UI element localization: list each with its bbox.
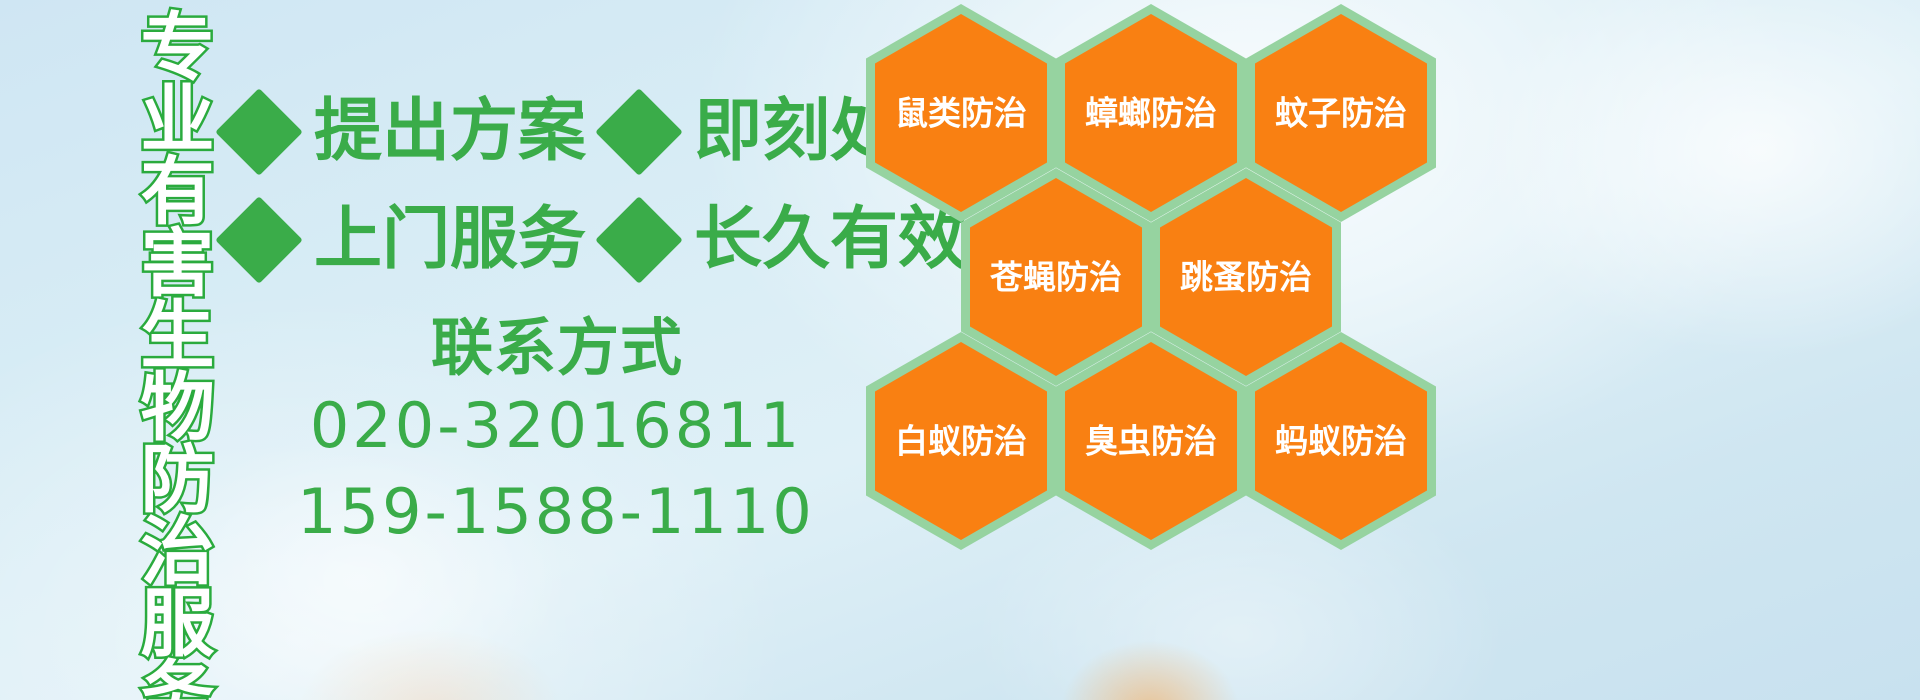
feature-item: 提出方案 [228,98,608,166]
hex-label: 跳蚤防治 [1151,261,1341,294]
hex-cell-bedbug[interactable]: 臭虫防治 [1056,332,1246,550]
feature-row: 上门服务 长久有效 [228,186,868,294]
diamond-icon [595,196,683,284]
feature-label: 提出方案 [314,98,586,166]
hex-label: 蟑螂防治 [1056,97,1246,130]
diamond-icon [595,88,683,176]
pest-control-banner: 专业有害生物防治服务 提出方案 即刻处理 上门服务 长久有效 联 [0,0,1920,700]
feature-item: 上门服务 [228,206,608,274]
hex-label: 蚊子防治 [1246,97,1436,130]
phone-number-mobile[interactable]: 159-1588-1110 [236,469,876,555]
service-honeycomb: 鼠类防治 蟑螂防治 蚊子防治 苍蝇防治 跳蚤防治 白蚁防治 臭虫防治 [858,0,1458,700]
phone-number-landline[interactable]: 020-32016811 [236,383,876,469]
hex-label: 鼠类防治 [866,97,1056,130]
hex-cell-ant[interactable]: 蚂蚁防治 [1246,332,1436,550]
hex-label: 蚂蚁防治 [1246,425,1436,458]
diamond-icon [215,196,303,284]
feature-row: 提出方案 即刻处理 [228,78,868,186]
background-glow [1480,0,1920,360]
hex-label: 苍蝇防治 [961,261,1151,294]
hex-label: 臭虫防治 [1056,425,1246,458]
contact-title: 联系方式 [238,312,876,383]
contact-block: 联系方式 020-32016811 159-1588-1110 [228,312,876,554]
feature-label: 上门服务 [314,206,586,274]
hex-cell-termite[interactable]: 白蚁防治 [866,332,1056,550]
diamond-icon [215,88,303,176]
background-glow [300,630,560,700]
vertical-slogan: 专业有害生物防治服务 [104,8,208,700]
hex-label: 白蚁防治 [866,425,1056,458]
feature-list: 提出方案 即刻处理 上门服务 长久有效 [228,78,868,294]
